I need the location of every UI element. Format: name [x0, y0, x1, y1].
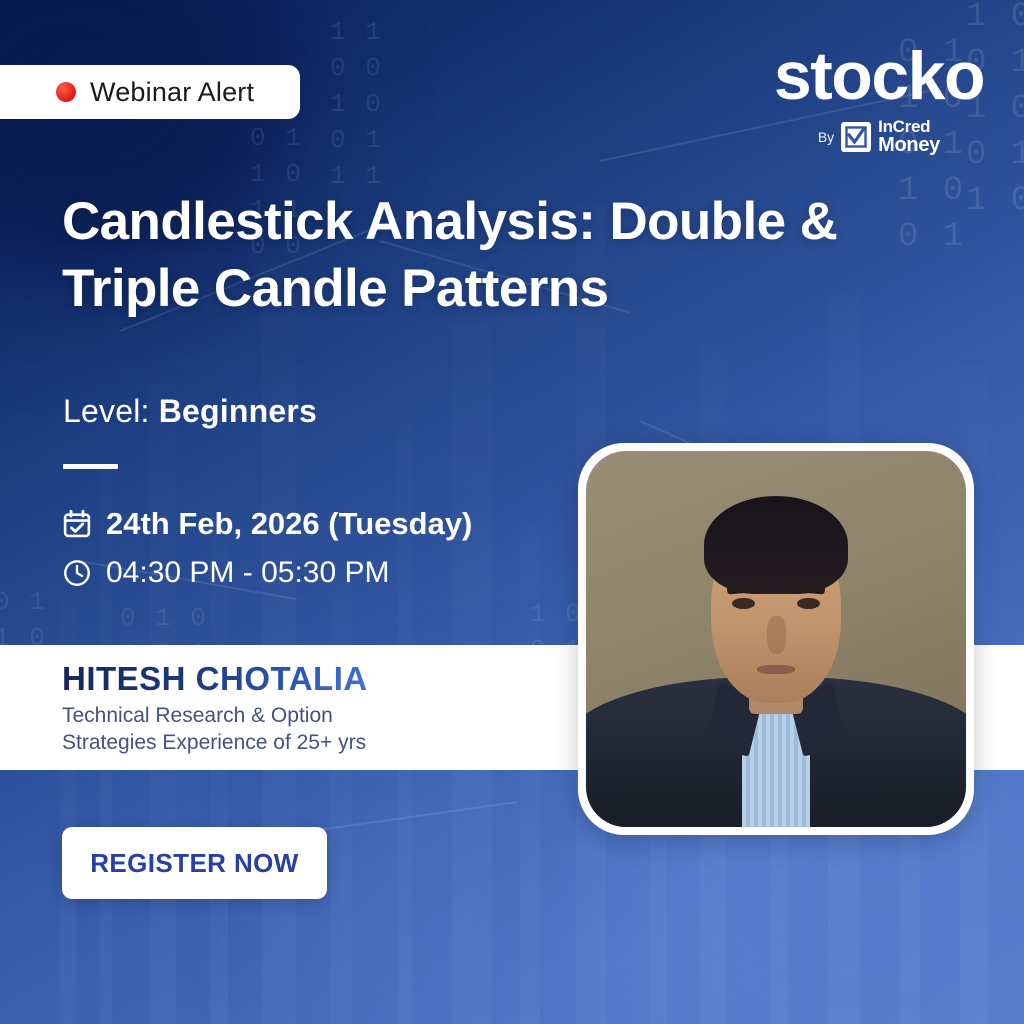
speaker-portrait	[586, 451, 966, 827]
clock-icon	[62, 558, 92, 588]
portrait-mouth	[757, 665, 795, 674]
webinar-date: 24th Feb, 2026 (Tuesday)	[106, 506, 472, 542]
divider	[63, 464, 118, 469]
webinar-alert-label: Webinar Alert	[90, 77, 254, 108]
binary-column: 1 1 0 0 1 0 0 1 1 1	[330, 14, 383, 194]
speaker-photo-frame	[578, 443, 974, 835]
level-label: Level:	[63, 393, 150, 429]
register-now-button[interactable]: REGISTER NOW	[62, 827, 327, 899]
logo-parent-brand: By InCred Money	[774, 119, 984, 155]
level-row: Level: Beginners	[63, 393, 317, 430]
speaker-role: Technical Research & Option Strategies E…	[62, 703, 542, 757]
incred-money-wordmark: InCred Money	[878, 119, 940, 155]
logo-by-label: By	[818, 129, 834, 145]
register-now-label: REGISTER NOW	[90, 848, 298, 879]
webinar-alert-badge: Webinar Alert	[0, 65, 300, 119]
speaker-name: HITESH CHOTALIA	[62, 660, 542, 698]
incred-check-box-icon	[841, 122, 871, 152]
webinar-date-row: 24th Feb, 2026 (Tuesday)	[62, 506, 472, 542]
stocko-wordmark: stocko	[774, 42, 984, 110]
webinar-poster: 1 0 0 1 1 0 0 1 1 0 0 1 1 0 0 1 1 0 0 1 …	[0, 0, 1024, 1024]
calendar-check-icon	[62, 509, 92, 539]
page-title: Candlestick Analysis: Double & Triple Ca…	[62, 188, 942, 323]
red-dot-icon	[56, 82, 76, 102]
stocko-logo: stocko By InCred Money	[774, 42, 984, 155]
portrait-hair	[704, 496, 848, 594]
portrait-eye-left	[732, 598, 755, 609]
webinar-time-row: 04:30 PM - 05:30 PM	[62, 556, 389, 590]
speaker-info: HITESH CHOTALIA Technical Research & Opt…	[62, 660, 542, 757]
portrait-eye-right	[797, 598, 820, 609]
webinar-time: 04:30 PM - 05:30 PM	[106, 556, 389, 590]
speaker-role-line-2: Strategies Experience of 25+ yrs	[62, 730, 542, 757]
money-line: Money	[878, 136, 940, 156]
speaker-role-line-1: Technical Research & Option	[62, 703, 542, 730]
level-value: Beginners	[159, 393, 317, 429]
portrait-nose	[767, 616, 786, 654]
